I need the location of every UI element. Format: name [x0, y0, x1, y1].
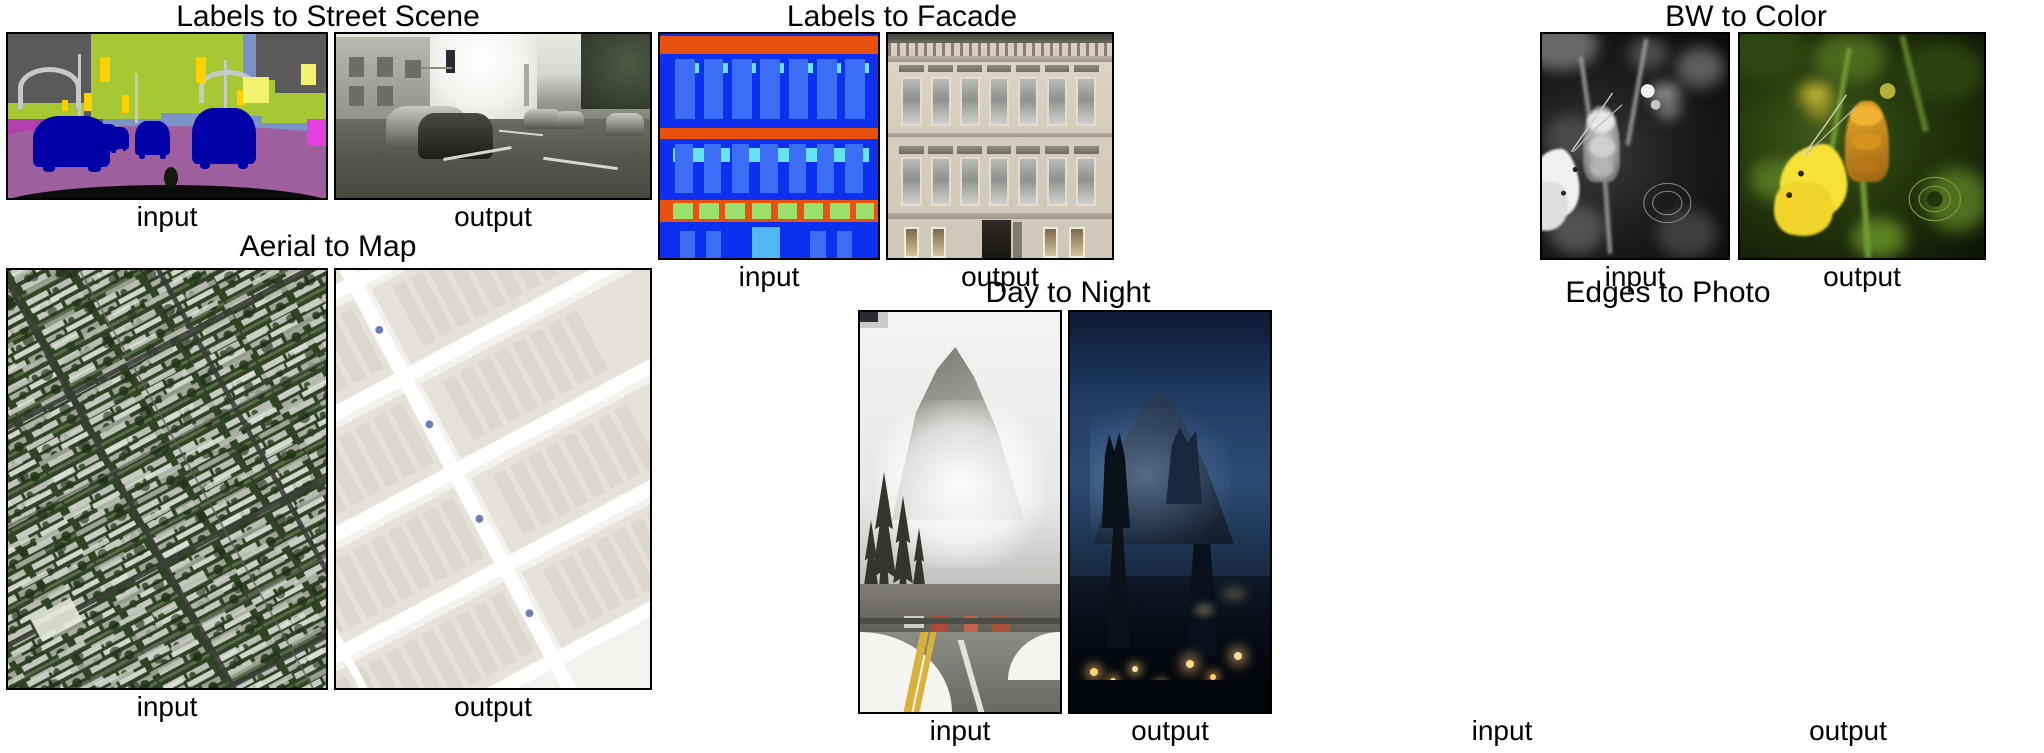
panel-input-day[interactable]	[858, 310, 1062, 714]
grayscale-butterfly-photo	[1542, 34, 1728, 258]
task-labels-to-street-scene: Labels to Street Scene	[4, 2, 652, 230]
caption-input-edges: input	[1334, 716, 1670, 746]
caption-input-labels-street: input	[6, 202, 328, 232]
panel-output-labels-street[interactable]	[334, 32, 652, 200]
caption-output-night: output	[1068, 716, 1272, 746]
panel-input-facade-labels[interactable]	[658, 32, 880, 260]
task-day-to-night: Day to Night	[858, 278, 1278, 752]
panel-input-aerial[interactable]	[6, 268, 328, 690]
facade-photo	[888, 34, 1112, 258]
panel-output-handbag[interactable]	[1680, 312, 2016, 714]
caption-output-map: output	[334, 692, 652, 722]
cityscapes-label-map	[8, 34, 326, 198]
caption-input-aerial: input	[6, 692, 328, 722]
caption-output-handbag: output	[1680, 716, 2016, 746]
street-map	[336, 270, 650, 688]
aerial-photo	[8, 270, 326, 688]
panel-output-facade-photo[interactable]	[886, 32, 1114, 260]
daytime-photo	[860, 312, 1060, 712]
caption-output-labels-street: output	[334, 202, 652, 232]
panel-output-map[interactable]	[334, 268, 652, 690]
task-title-labels-to-street-scene: Labels to Street Scene	[4, 2, 652, 32]
task-bw-to-color: BW to Color	[1456, 2, 2040, 292]
panel-output-night[interactable]	[1068, 310, 1272, 714]
task-title-labels-to-facade: Labels to Facade	[658, 2, 1146, 32]
task-title-bw-to-color: BW to Color	[1506, 2, 1986, 32]
handbag-photo	[1680, 312, 2016, 714]
task-title-day-to-night: Day to Night	[858, 278, 1278, 308]
panel-output-color-butterfly[interactable]	[1738, 32, 1986, 260]
task-title-aerial-to-map: Aerial to Map	[4, 232, 652, 262]
figure-root: Labels to Street Scene	[0, 0, 2044, 753]
panel-input-edges[interactable]	[1334, 312, 1670, 714]
panel-input-labels-street[interactable]	[6, 32, 328, 200]
task-edges-to-photo: Edges to Photo	[1296, 278, 2040, 752]
facade-label-map	[660, 34, 878, 258]
caption-input-day: input	[858, 716, 1062, 746]
panel-input-bw-butterfly[interactable]	[1540, 32, 1730, 260]
caption-input-facade-labels: input	[658, 262, 880, 292]
colorized-butterfly-photo	[1740, 34, 1984, 258]
handbag-edge-map	[1334, 312, 1670, 714]
task-title-edges-to-photo: Edges to Photo	[1296, 278, 2040, 308]
nighttime-photo	[1070, 312, 1270, 712]
street-scene-photo	[336, 34, 650, 198]
task-aerial-to-map: Aerial to Map	[4, 232, 852, 752]
task-labels-to-facade: Labels to Facade	[658, 2, 1146, 292]
